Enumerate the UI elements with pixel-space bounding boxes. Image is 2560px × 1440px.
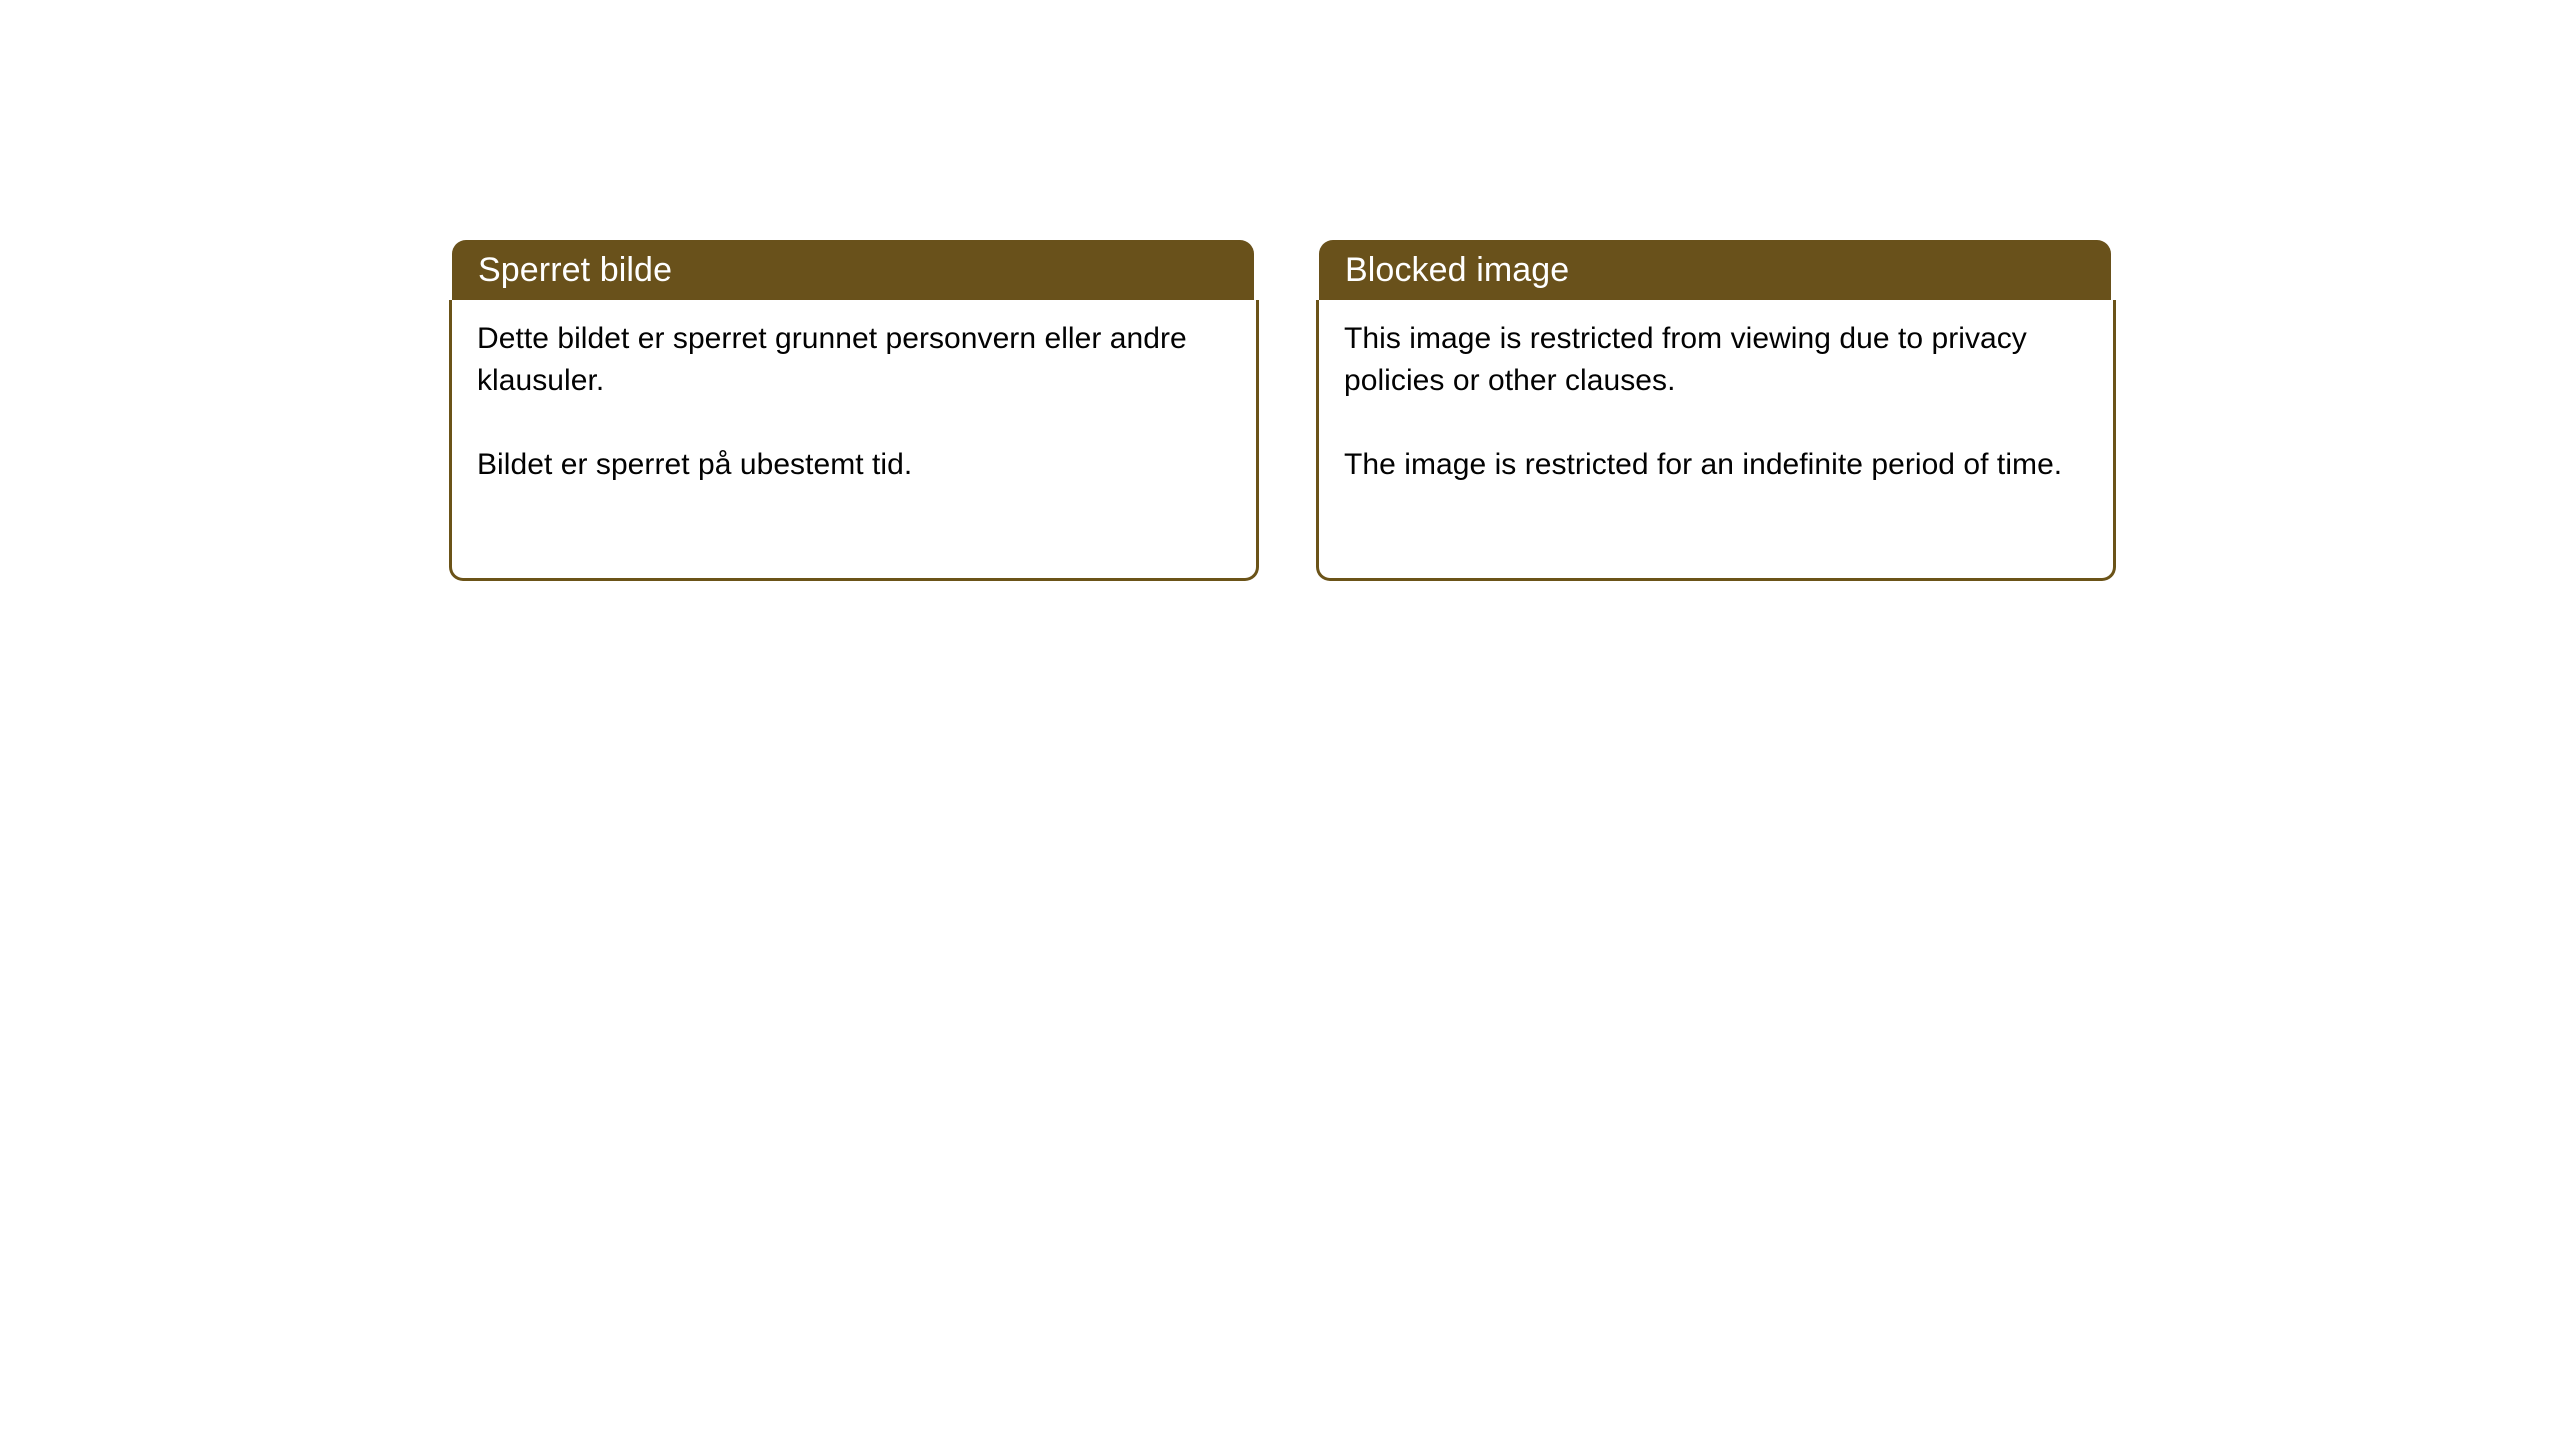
notice-body-english: This image is restricted from viewing du… bbox=[1316, 300, 2116, 581]
notice-header-english: Blocked image bbox=[1319, 240, 2111, 300]
notice-paragraph-reason-norwegian: Dette bildet er sperret grunnet personve… bbox=[477, 318, 1232, 402]
blocked-image-notice-english: Blocked image This image is restricted f… bbox=[1316, 240, 2116, 581]
notice-paragraph-duration-english: The image is restricted for an indefinit… bbox=[1344, 444, 2089, 486]
notice-title-english: Blocked image bbox=[1345, 251, 1569, 289]
notice-title-norwegian: Sperret bilde bbox=[478, 251, 672, 289]
notice-body-norwegian: Dette bildet er sperret grunnet personve… bbox=[449, 300, 1259, 581]
notice-paragraph-duration-norwegian: Bildet er sperret på ubestemt tid. bbox=[477, 444, 1232, 486]
blocked-image-notice-norwegian: Sperret bilde Dette bildet er sperret gr… bbox=[449, 240, 1259, 581]
notice-paragraph-reason-english: This image is restricted from viewing du… bbox=[1344, 318, 2089, 402]
page-canvas: Sperret bilde Dette bildet er sperret gr… bbox=[0, 0, 2560, 1440]
notice-header-norwegian: Sperret bilde bbox=[452, 240, 1254, 300]
